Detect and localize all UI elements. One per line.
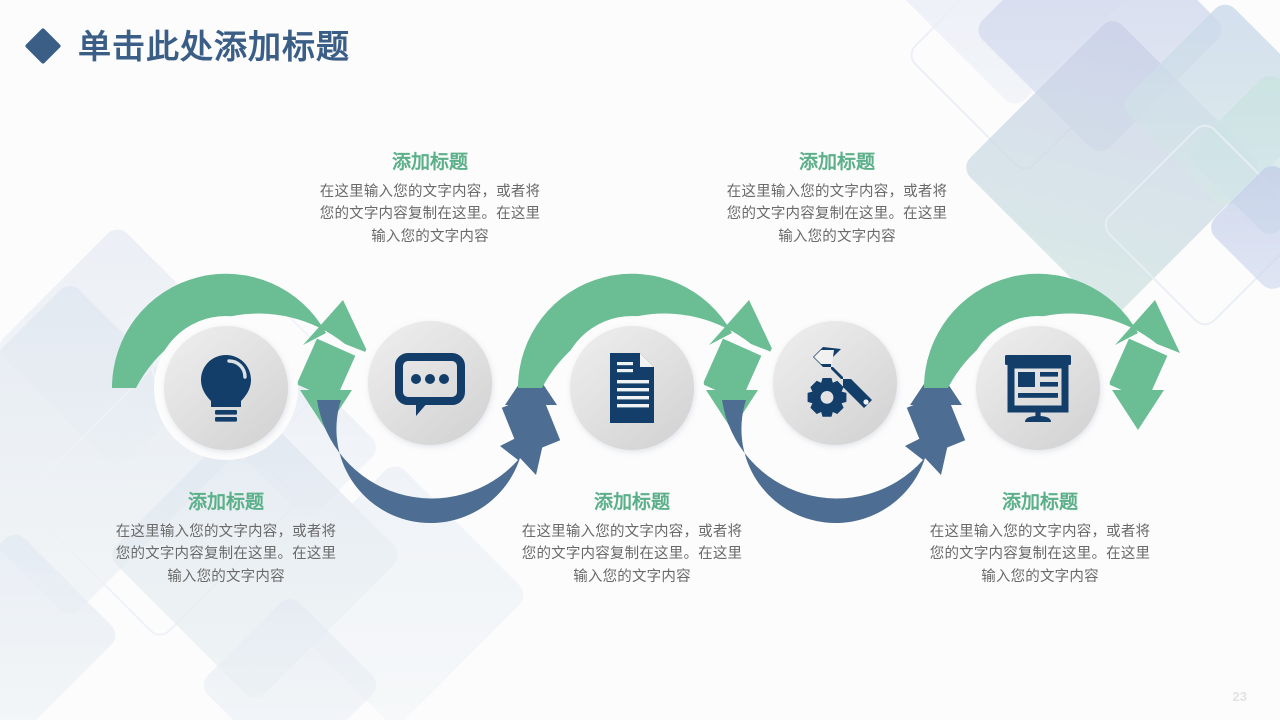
document-icon — [610, 353, 654, 423]
step-body: 在这里输入您的文字内容，或者将您的文字内容复制在这里。在这里输入您的文字内容 — [925, 521, 1155, 588]
page-number: 23 — [1233, 689, 1247, 704]
step-body: 在这里输入您的文字内容，或者将您的文字内容复制在这里。在这里输入您的文字内容 — [111, 521, 341, 588]
step-heading: 添加标题 — [315, 152, 545, 175]
step-heading: 添加标题 — [925, 492, 1155, 515]
step-text-5: 添加标题 在这里输入您的文字内容，或者将您的文字内容复制在这里。在这里输入您的文… — [925, 492, 1155, 588]
step-body: 在这里输入您的文字内容，或者将您的文字内容复制在这里。在这里输入您的文字内容 — [517, 521, 747, 588]
slide-canvas: 单击此处添加标题 — [0, 0, 1280, 720]
step-body: 在这里输入您的文字内容，或者将您的文字内容复制在这里。在这里输入您的文字内容 — [315, 181, 545, 248]
step-text-3: 添加标题 在这里输入您的文字内容，或者将您的文字内容复制在这里。在这里输入您的文… — [517, 492, 747, 588]
step-text-1: 添加标题 在这里输入您的文字内容，或者将您的文字内容复制在这里。在这里输入您的文… — [111, 492, 341, 588]
step-text-2: 添加标题 在这里输入您的文字内容，或者将您的文字内容复制在这里。在这里输入您的文… — [315, 152, 545, 248]
step-heading: 添加标题 — [111, 492, 341, 515]
step-circle-5[interactable] — [976, 326, 1100, 450]
step-heading: 添加标题 — [722, 152, 952, 175]
step-body: 在这里输入您的文字内容，或者将您的文字内容复制在这里。在这里输入您的文字内容 — [722, 181, 952, 248]
step-text-4: 添加标题 在这里输入您的文字内容，或者将您的文字内容复制在这里。在这里输入您的文… — [722, 152, 952, 248]
process-diagram — [0, 0, 1280, 720]
step-heading: 添加标题 — [517, 492, 747, 515]
